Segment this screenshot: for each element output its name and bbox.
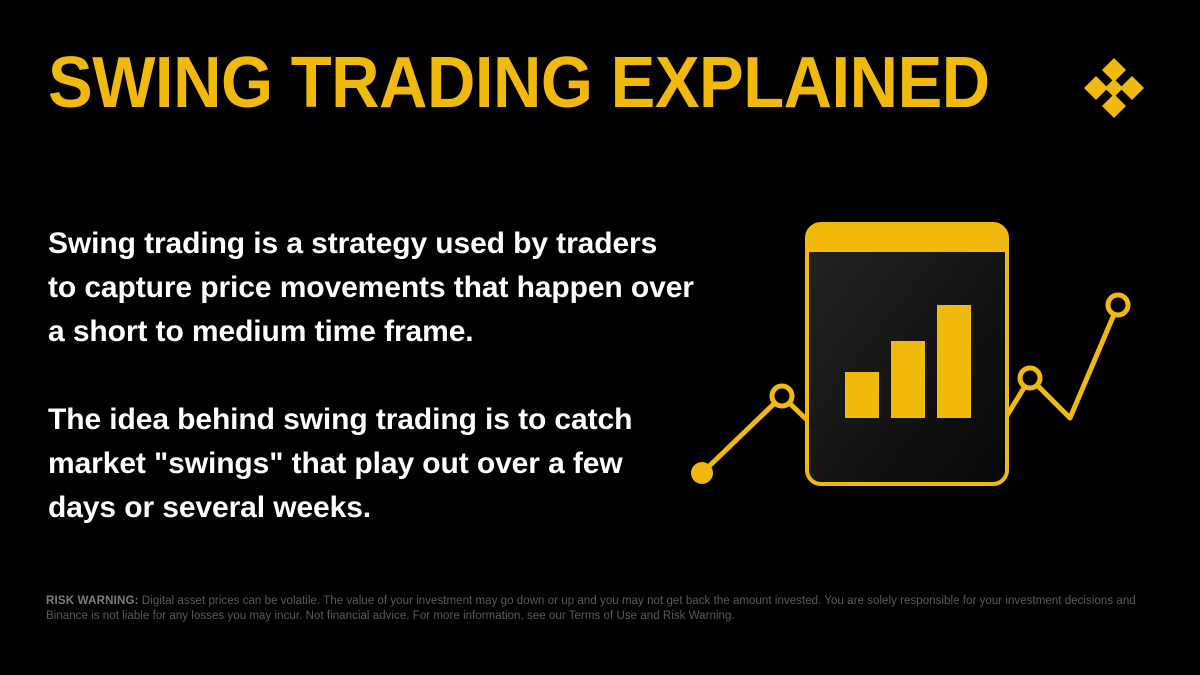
paragraph-definition: Swing trading is a strategy used by trad… [48,222,738,354]
chart-card-icon [805,222,1009,484]
node-end [1108,295,1128,315]
swing-trading-chart-illustration [670,200,1150,510]
footer: RISK WARNING: Digital asset prices can b… [46,594,1158,624]
slide-canvas: SWING TRADING EXPLAINED Swing trading is… [0,0,1200,675]
binance-diamond-logo-icon [1082,56,1146,120]
page-title: SWING TRADING EXPLAINED [48,42,990,124]
card-bar-1 [845,372,879,418]
card-bar-2 [891,341,925,418]
node-peak-2 [1020,368,1040,388]
paragraph-idea: The idea behind swing trading is to catc… [48,398,738,530]
card-bar-3 [937,305,971,418]
header: SWING TRADING EXPLAINED [48,42,1152,134]
node-start-filled [691,462,713,484]
risk-warning-label: RISK WARNING: [46,595,139,607]
risk-warning-disclaimer: RISK WARNING: Digital asset prices can b… [46,594,1158,624]
risk-warning-text: Digital asset prices can be volatile. Th… [46,595,1136,622]
node-peak-1 [772,386,792,406]
body-copy: Swing trading is a strategy used by trad… [48,222,738,530]
